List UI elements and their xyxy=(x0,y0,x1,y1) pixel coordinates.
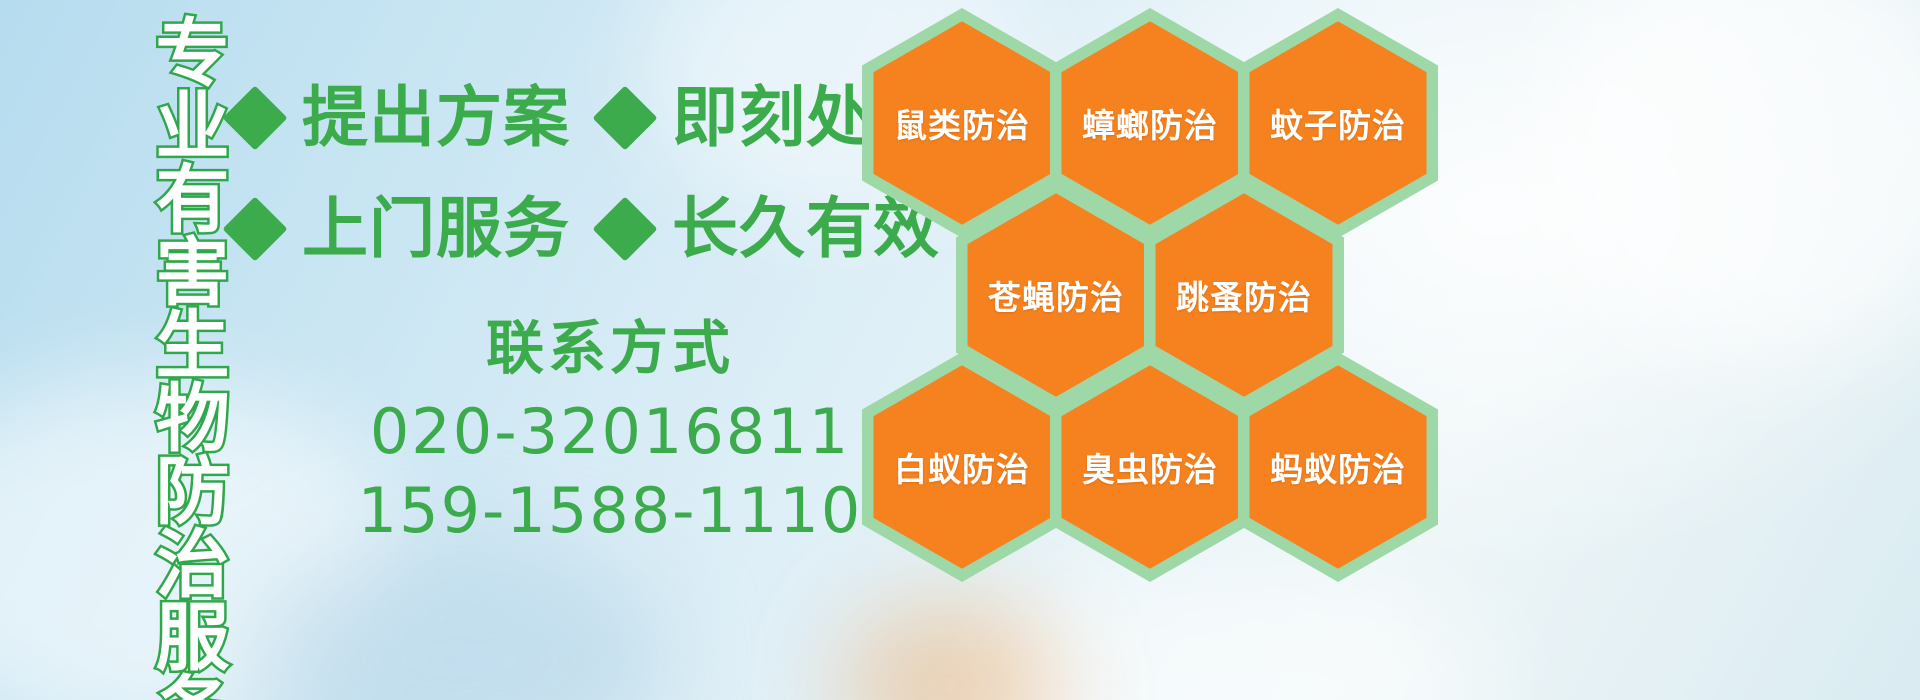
service-label: 蚊子防治 xyxy=(1270,99,1406,147)
service-honeycomb: 鼠类防治 蟑螂防治 蚊子防治 苍蝇防治 跳蚤防治 白蚁防治 xyxy=(858,0,1468,580)
diamond-bullet-icon xyxy=(592,196,657,261)
service-label: 跳蚤防治 xyxy=(1176,271,1312,319)
service-label: 鼠类防治 xyxy=(894,99,1030,147)
service-hex-bedbug[interactable]: 臭虫防治 xyxy=(1050,352,1250,582)
vertical-slogan-text: 专业有害生物防治服务 xyxy=(108,14,220,554)
background-blob xyxy=(840,600,1060,700)
feature-item-propose-plan: 提出方案 xyxy=(232,85,570,151)
contact-phone-mobile[interactable]: 159-1588-1110 xyxy=(330,471,890,550)
service-label: 苍蝇防治 xyxy=(988,271,1124,319)
feature-item-onsite-service: 上门服务 xyxy=(232,196,570,262)
diamond-bullet-icon xyxy=(222,85,287,150)
feature-label: 上门服务 xyxy=(302,196,570,262)
contact-title: 联系方式 xyxy=(330,315,890,382)
feature-label: 提出方案 xyxy=(302,85,570,151)
diamond-bullet-icon xyxy=(222,196,287,261)
background-blob xyxy=(1540,0,1920,360)
feature-row-top: 提出方案 即刻处理 xyxy=(232,85,940,151)
service-label: 臭虫防治 xyxy=(1082,443,1218,491)
pest-control-banner: 专业有害生物防治服务 提出方案 即刻处理 上门服务 长久有效 联系方式 020-… xyxy=(0,0,1920,700)
service-hex-termite[interactable]: 白蚁防治 xyxy=(862,352,1062,582)
contact-block: 联系方式 020-32016811 159-1588-1110 xyxy=(330,315,890,550)
service-label: 蟑螂防治 xyxy=(1082,99,1218,147)
service-label: 白蚁防治 xyxy=(894,443,1030,491)
contact-phone-landline[interactable]: 020-32016811 xyxy=(330,392,890,471)
diamond-bullet-icon xyxy=(592,85,657,150)
service-label: 蚂蚁防治 xyxy=(1270,443,1406,491)
service-hex-ant[interactable]: 蚂蚁防治 xyxy=(1238,352,1438,582)
feature-row-bottom: 上门服务 长久有效 xyxy=(232,196,940,262)
background-blob xyxy=(250,540,670,700)
